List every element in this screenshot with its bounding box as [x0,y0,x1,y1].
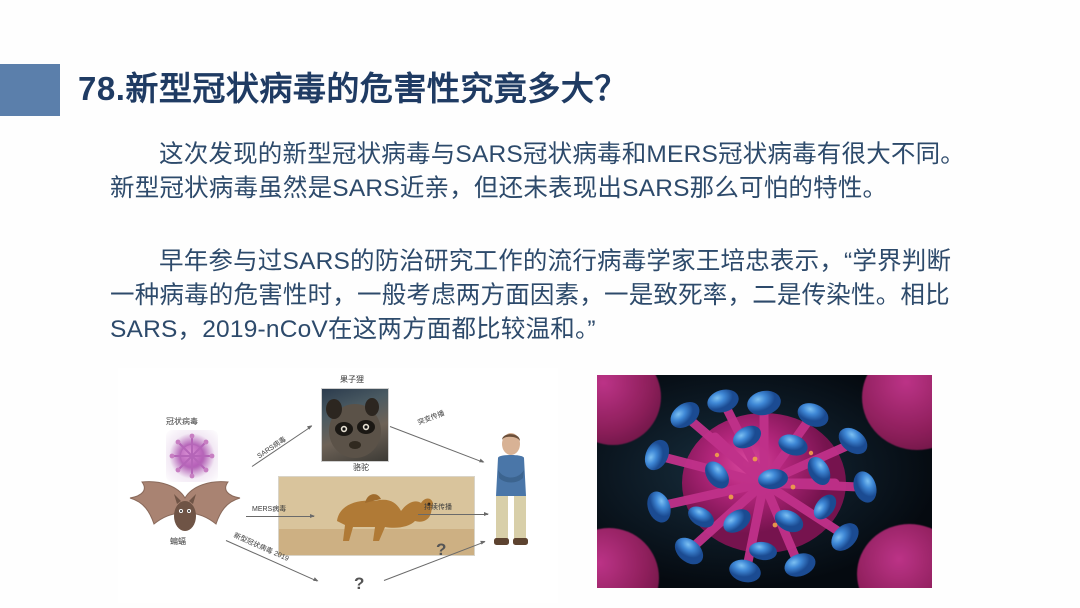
title-accent-bar [0,64,60,116]
virion-spikes-layer [597,375,932,588]
body-paragraph-2: 早年参与过SARS的防治研究工作的流行病毒学家王培忠表示，“学界判断一种病毒的危… [110,245,970,347]
arrow-camel-to-human [418,514,488,515]
coronavirus-3d-image [597,375,932,588]
civet-photo [321,388,389,462]
slide-canvas: 78.新型冠状病毒的危害性究竟多大？ 这次发现的新型冠状病毒与SARS冠状病毒和… [0,0,1080,608]
body-paragraph-1: 这次发现的新型冠状病毒与SARS冠状病毒和MERS冠状病毒有很大不同。新型冠状病… [110,138,970,206]
coronavirus-spikes [166,430,218,482]
diagram-label-camel: 骆驼 [353,462,369,473]
human-illustration [490,430,532,548]
arrow-label-sars-virus: SARS病毒 [255,434,288,461]
arrow-label-mers-virus: MERS病毒 [252,504,286,514]
coronavirus-icon [166,430,218,482]
arrow-bat-to-camel [246,516,314,517]
diagram-label-bat: 蝙蝠 [170,536,186,547]
arrow-label-sustained-transmission: 持续传播 [424,502,452,512]
question-mark-1: ? [436,540,446,560]
arrow-civet-to-human [390,426,484,463]
page-title: 78.新型冠状病毒的危害性究竟多大？ [78,62,628,110]
transmission-diagram: 冠状病毒 [118,368,558,603]
question-mark-2: ? [354,574,364,594]
arrow-label-mutation-transmission: 突变传播 [416,408,446,427]
diagram-label-coronavirus: 冠状病毒 [166,416,198,427]
diagram-label-civet: 果子狸 [340,374,364,385]
bat-illustration [120,476,250,544]
